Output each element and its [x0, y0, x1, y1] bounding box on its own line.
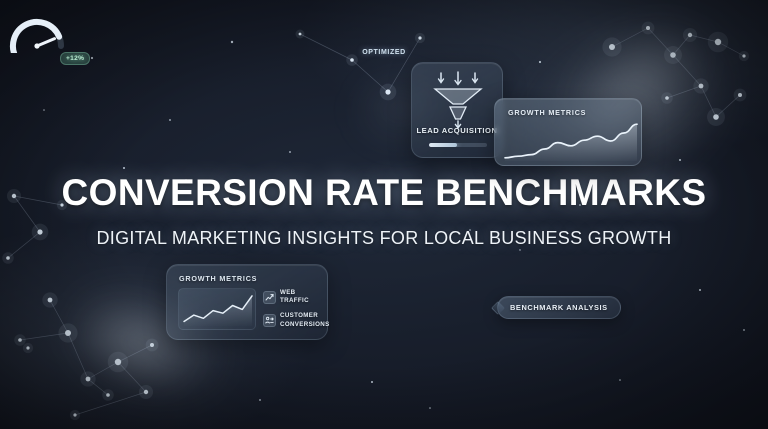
- card-growth-metrics-bottom[interactable]: GROWTH METRICS: [166, 264, 328, 340]
- hero-text-block: CONVERSION RATE BENCHMARKS DIGITAL MARKE…: [0, 172, 768, 249]
- progress-bar-fill: [429, 143, 457, 147]
- funnel-icon: [428, 71, 488, 129]
- users-conversion-icon: [263, 314, 276, 327]
- benchmark-analysis-badge[interactable]: BENCHMARK ANALYSIS: [497, 296, 621, 319]
- legend-item[interactable]: CUSTOMER CONVERSIONS: [263, 312, 330, 328]
- legend-label: CUSTOMER CONVERSIONS: [280, 312, 330, 328]
- card-label: LEAD ACQUISITION: [412, 126, 502, 135]
- card-title: GROWTH METRICS: [508, 108, 586, 117]
- speedometer-icon: [8, 9, 66, 53]
- line-chart-icon: [179, 289, 256, 330]
- chart-panel: [178, 288, 256, 330]
- card-title: GROWTH METRICS: [179, 274, 257, 283]
- growth-badge: +12%: [60, 52, 90, 65]
- legend-label: WEB TRAFFIC: [280, 289, 309, 305]
- hero-banner: CONVERSION RATE BENCHMARKS DIGITAL MARKE…: [0, 0, 768, 429]
- card-growth-metrics-top[interactable]: GROWTH METRICS: [494, 98, 642, 166]
- legend-item[interactable]: WEB TRAFFIC: [263, 289, 330, 305]
- progress-bar: [429, 143, 487, 147]
- page-subtitle: DIGITAL MARKETING INSIGHTS FOR LOCAL BUS…: [0, 228, 768, 249]
- card-lead-acquisition[interactable]: LEAD ACQUISITION: [411, 62, 503, 158]
- gauge-label: OPTIMIZED: [0, 49, 768, 56]
- page-title: CONVERSION RATE BENCHMARKS: [0, 172, 768, 214]
- line-chart-icon: [501, 117, 641, 165]
- chart-legend: WEB TRAFFIC CUSTOMER CONVERSIONS: [263, 289, 330, 329]
- card-body: LEAD ACQUISITION: [412, 63, 502, 157]
- trending-up-icon: [263, 291, 276, 304]
